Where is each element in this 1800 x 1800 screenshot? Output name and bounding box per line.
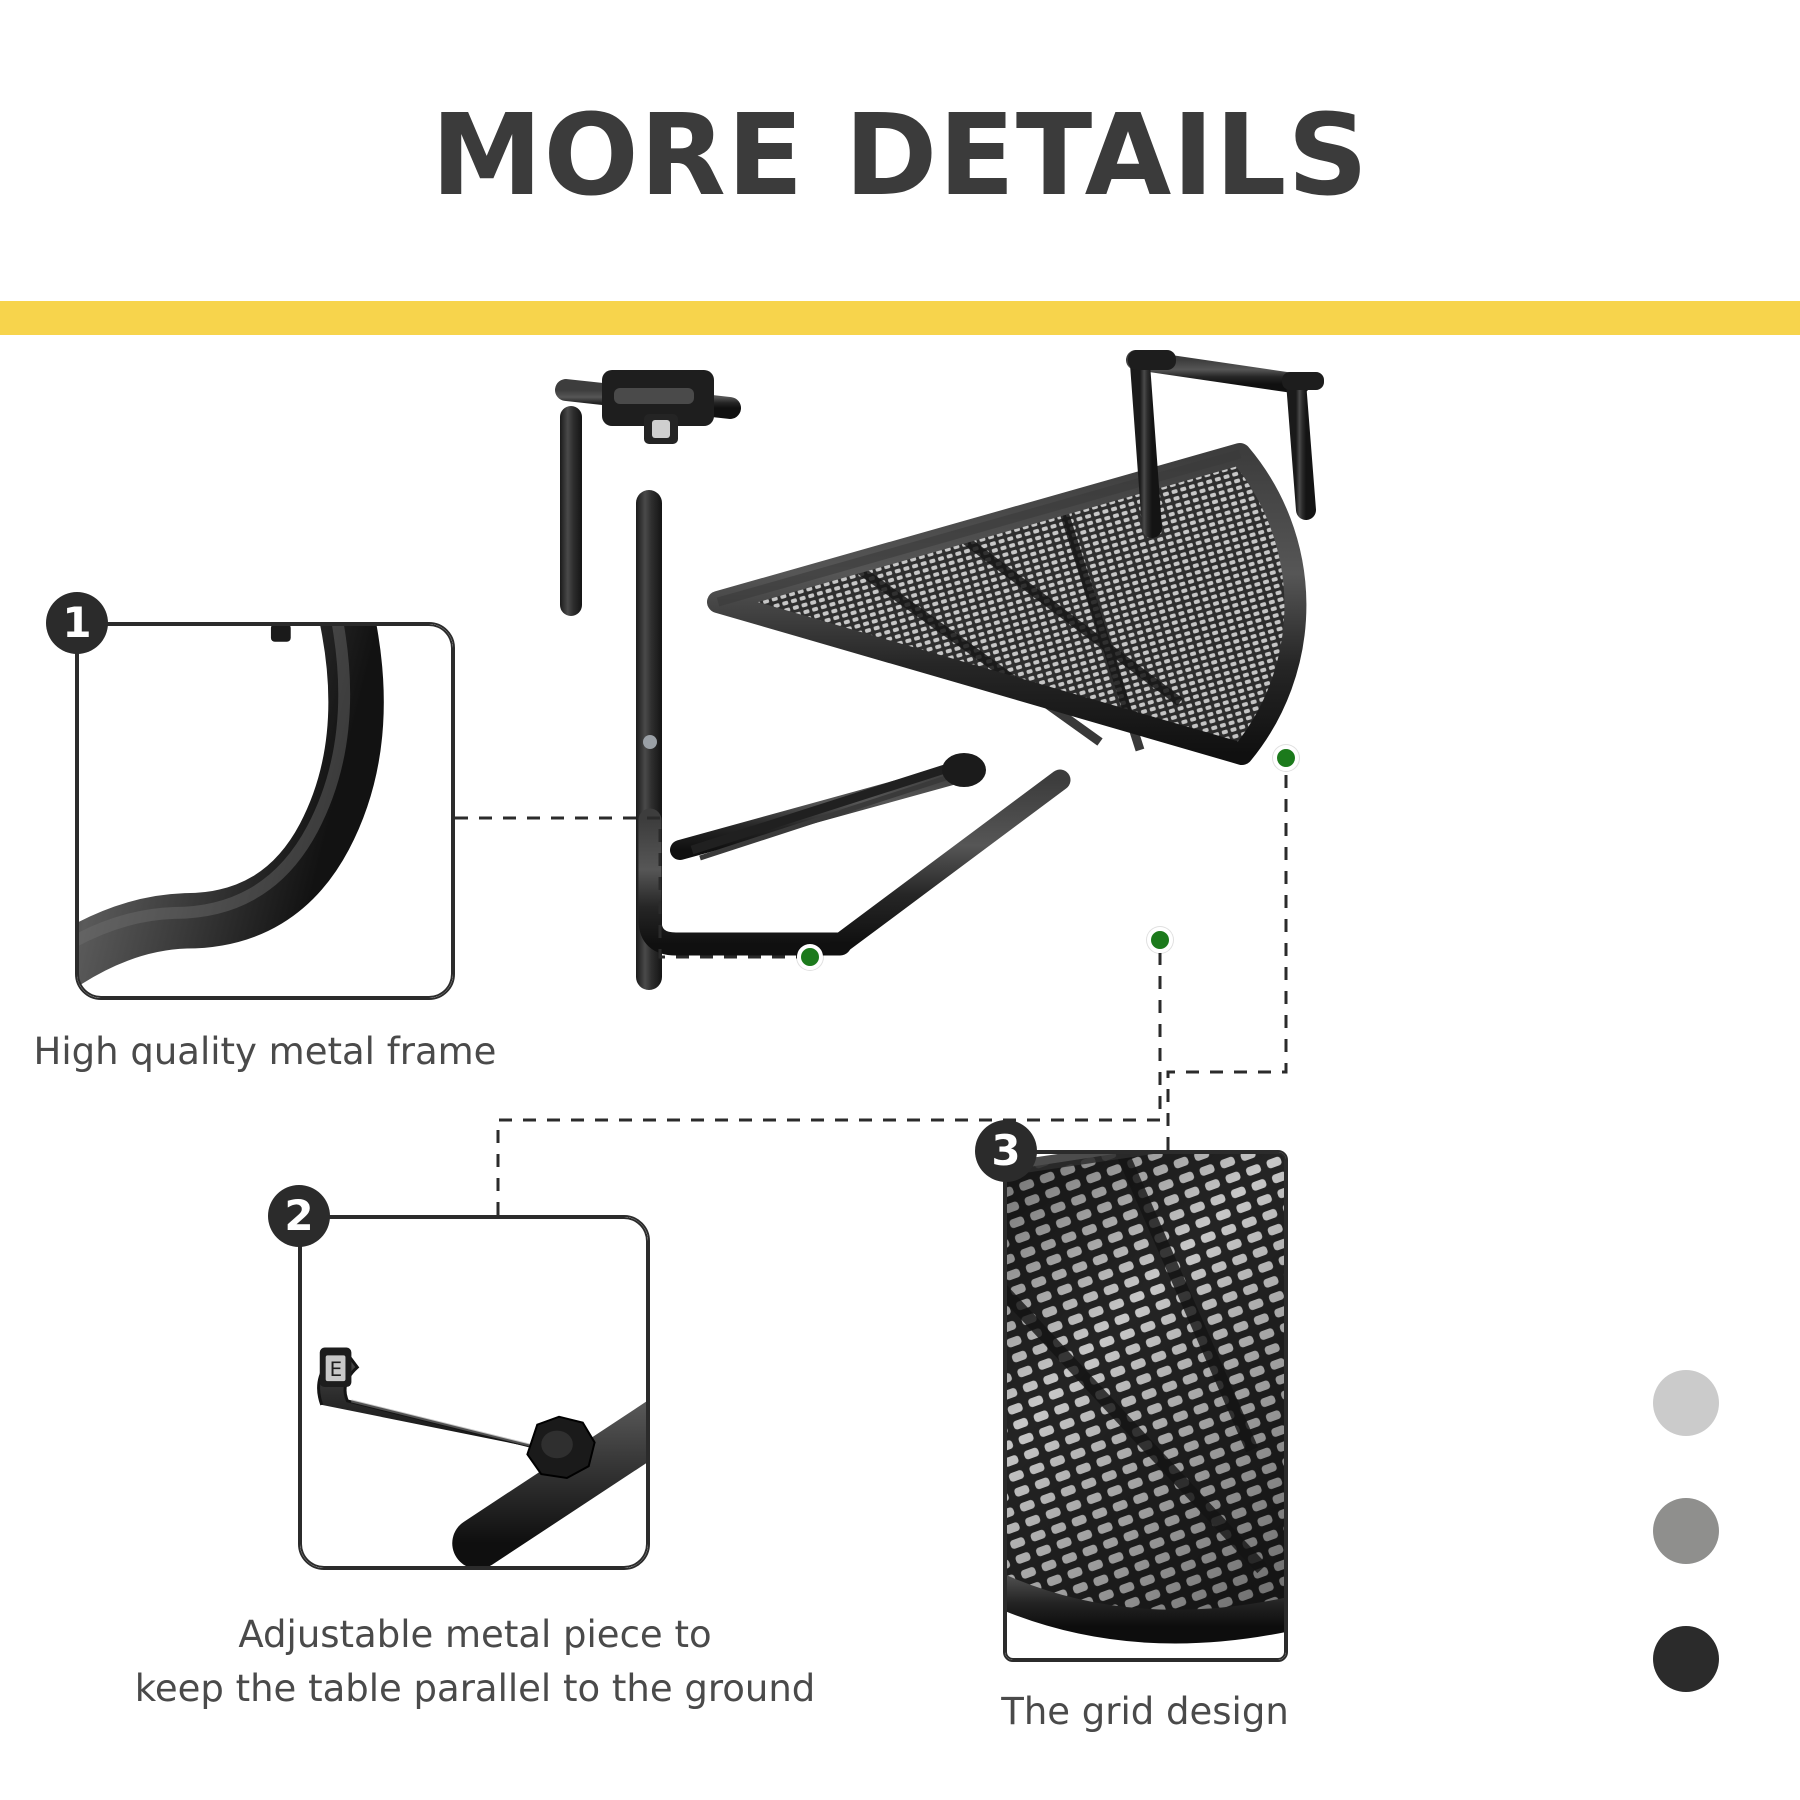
color-swatch-light-gray[interactable] — [1653, 1370, 1719, 1436]
callout-1-border — [77, 624, 453, 998]
marker-bracket — [1147, 927, 1173, 953]
marker-frame — [797, 944, 823, 970]
page-title: MORE DETAILS — [0, 92, 1800, 221]
callout-3-border — [1005, 1152, 1286, 1660]
color-swatch-medium-gray[interactable] — [1653, 1498, 1719, 1564]
product-hero-image — [540, 350, 1600, 990]
callout-badge-1: 1 — [46, 592, 108, 654]
callout-box-1 — [75, 622, 455, 1000]
accent-divider-bar — [0, 301, 1800, 335]
color-swatch-black[interactable] — [1653, 1626, 1719, 1692]
callout-2-border — [300, 1217, 648, 1568]
callout-caption-2: Adjustable metal piece to keep the table… — [130, 1608, 820, 1715]
marker-grid — [1273, 745, 1299, 771]
callout-badge-2: 2 — [268, 1185, 330, 1247]
callout-badge-3: 3 — [975, 1120, 1037, 1182]
callout-box-3 — [1003, 1150, 1288, 1662]
callout-caption-1: High quality metal frame — [10, 1025, 520, 1079]
product-detail-page: MORE DETAILS — [0, 0, 1800, 1800]
callout-box-2: E — [298, 1215, 650, 1570]
callout-caption-3: The grid design — [870, 1685, 1420, 1739]
